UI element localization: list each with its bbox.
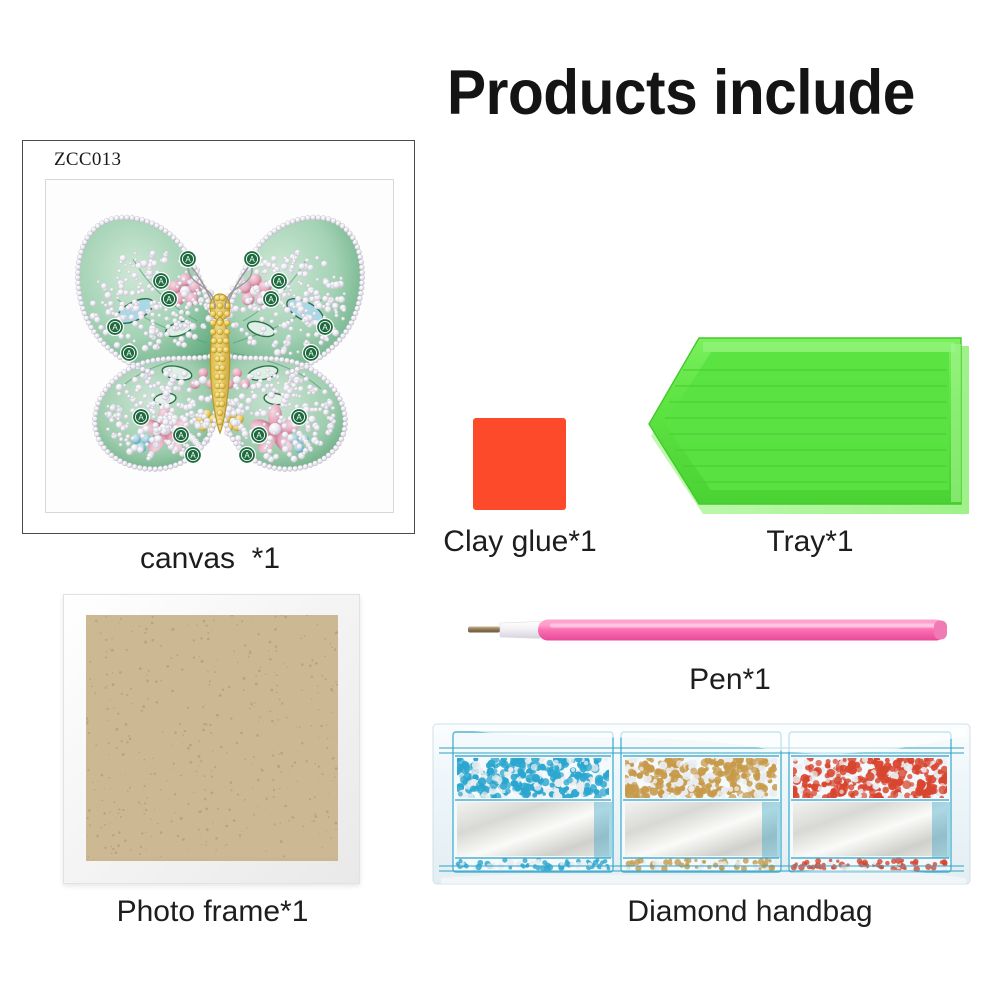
svg-text:A: A (112, 323, 118, 332)
svg-text:A: A (256, 431, 262, 440)
svg-text:A: A (268, 295, 274, 304)
svg-text:A: A (249, 255, 255, 264)
tray-product-image (643, 328, 978, 524)
svg-text:A: A (185, 255, 191, 264)
photo-frame-product-image (63, 594, 360, 884)
canvas-caption: canvas *1 (60, 542, 360, 576)
svg-text:A: A (190, 451, 196, 460)
svg-text:A: A (158, 277, 164, 286)
svg-text:A: A (244, 451, 250, 460)
canvas-print-area: AAAAAAAAAAAAAAAA (45, 179, 394, 513)
product-include-infographic: Products include ZCC013 (0, 0, 1001, 1001)
svg-text:A: A (308, 349, 314, 358)
diamond-handbag-product-image (431, 718, 972, 890)
svg-text:A: A (178, 431, 184, 440)
page-title: Products include (447, 58, 954, 128)
svg-text:A: A (322, 323, 328, 332)
pen-caption: Pen*1 (610, 663, 850, 697)
clay-glue-product-image (473, 418, 566, 510)
svg-text:A: A (276, 277, 282, 286)
clay-glue-caption: Clay glue*1 (400, 525, 640, 559)
pen-product-image (466, 614, 950, 646)
svg-text:A: A (126, 349, 132, 358)
photo-frame-caption: Photo frame*1 (30, 895, 395, 929)
canvas-product-panel: ZCC013 (22, 140, 415, 534)
jeweled-butterfly-artwork: AAAAAAAAAAAAAAAA (57, 203, 383, 489)
svg-text:A: A (296, 413, 302, 422)
canvas-code-label: ZCC013 (54, 149, 121, 171)
svg-text:A: A (166, 295, 172, 304)
diamond-handbag-caption: Diamond handbag (560, 895, 940, 929)
frame-backing-board (86, 615, 338, 861)
svg-text:A: A (138, 413, 144, 422)
tray-caption: Tray*1 (700, 525, 920, 559)
